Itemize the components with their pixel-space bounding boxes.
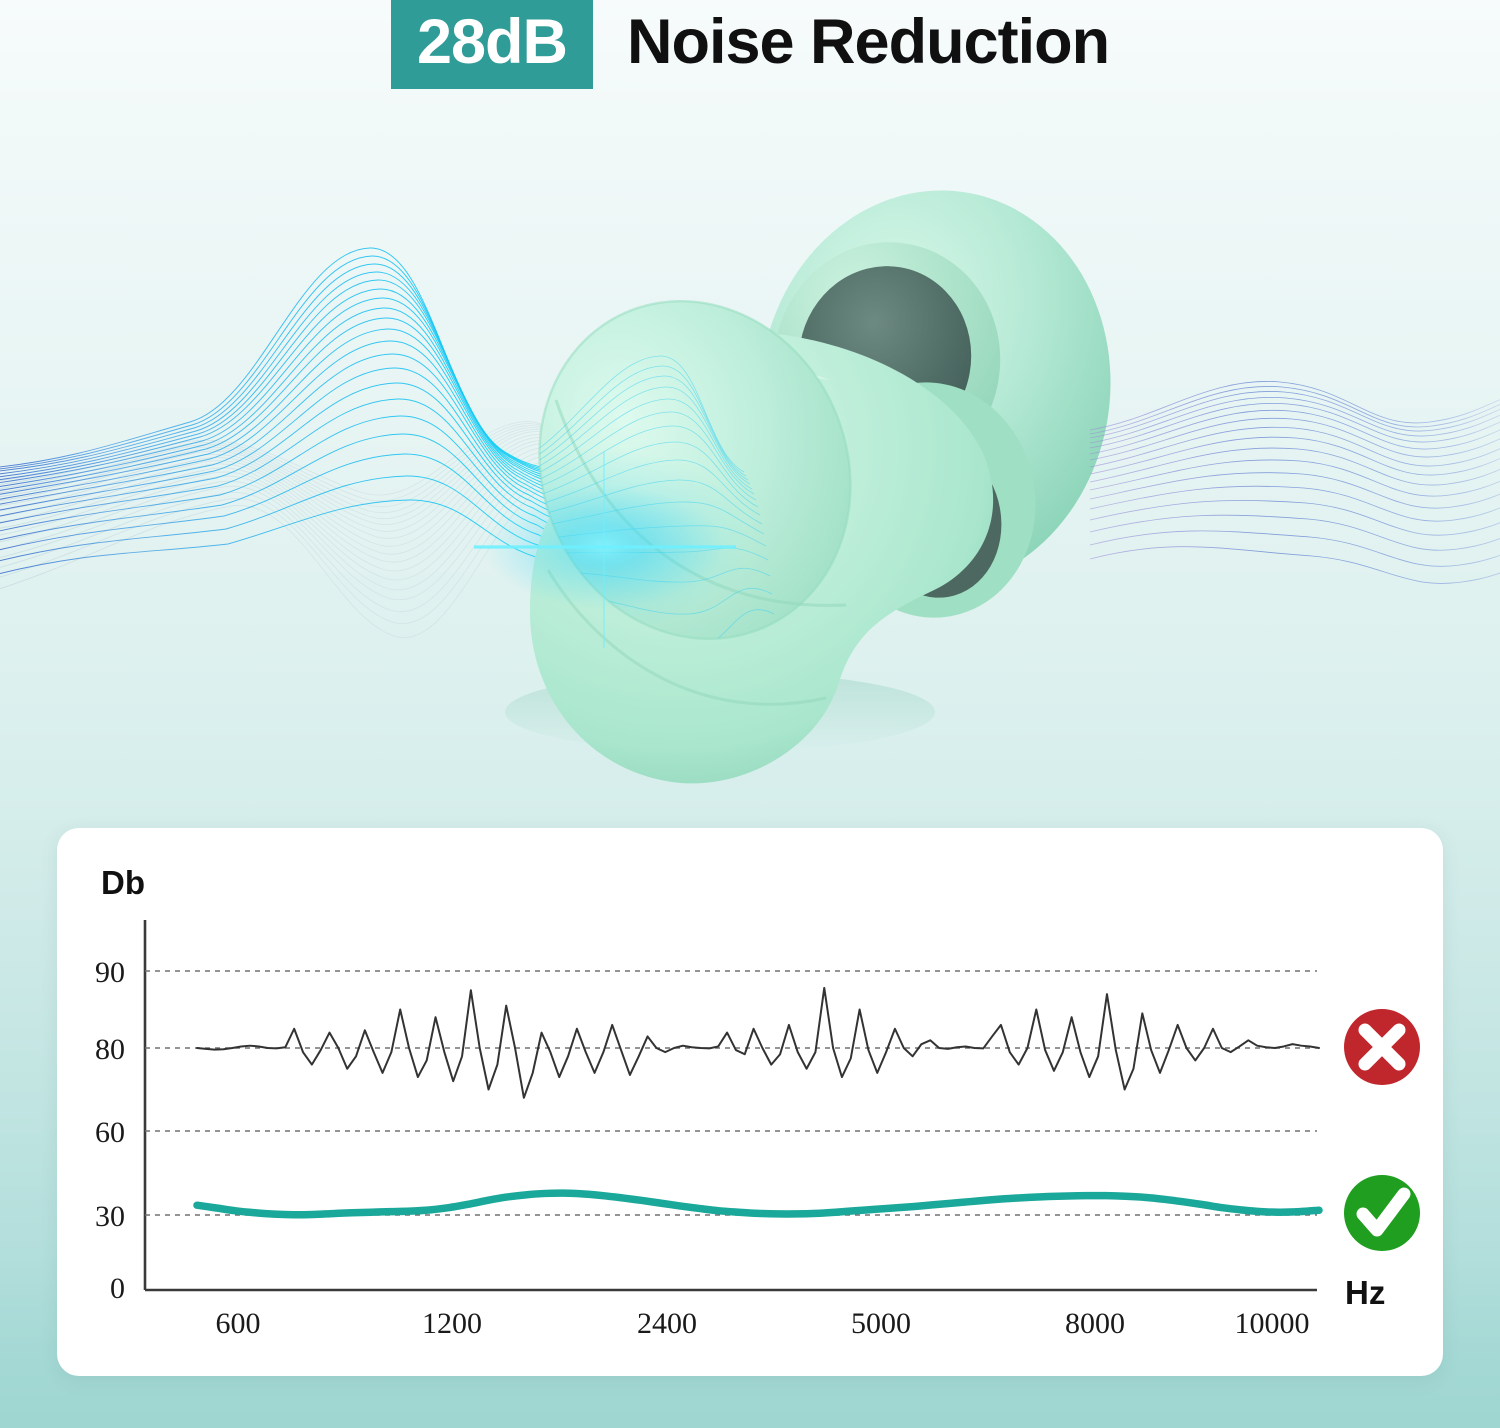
xtick-label-10000: 10000 [1235, 1307, 1310, 1340]
y-axis-title: Db [101, 864, 145, 901]
page-root: 28dB Noise Reduction [0, 0, 1500, 1428]
ytick-label-90: 90 [95, 956, 125, 989]
hero-product-section [0, 100, 1500, 812]
series-without-earplugs [197, 988, 1319, 1098]
cross-icon [1344, 1009, 1420, 1085]
xtick-label-8000: 8000 [1065, 1307, 1125, 1340]
xtick-label-1200: 1200 [422, 1307, 482, 1340]
noise-comparison-chart-card: Db 90 80 60 30 0 600 1200 2400 5000 8000… [57, 828, 1443, 1376]
xtick-label-600: 600 [216, 1307, 261, 1340]
x-axis-title: Hz [1345, 1274, 1385, 1311]
ytick-label-80: 80 [95, 1033, 125, 1066]
noise-reduction-badge: 28dB [391, 0, 593, 89]
ytick-label-30: 30 [95, 1200, 125, 1233]
ytick-label-0: 0 [110, 1272, 125, 1305]
sound-wave-right [1090, 381, 1500, 583]
check-icon [1344, 1175, 1420, 1251]
series-with-earplugs [197, 1193, 1319, 1215]
ytick-label-60: 60 [95, 1116, 125, 1149]
xtick-label-2400: 2400 [637, 1307, 697, 1340]
header: 28dB Noise Reduction [0, 0, 1500, 100]
hero-illustration [0, 100, 1500, 812]
xtick-label-5000: 5000 [851, 1307, 911, 1340]
product-earplug [450, 168, 1136, 784]
page-title: Noise Reduction [627, 11, 1109, 74]
badge-value: 28dB [417, 11, 567, 74]
chart: Db 90 80 60 30 0 600 1200 2400 5000 8000… [57, 828, 1443, 1376]
